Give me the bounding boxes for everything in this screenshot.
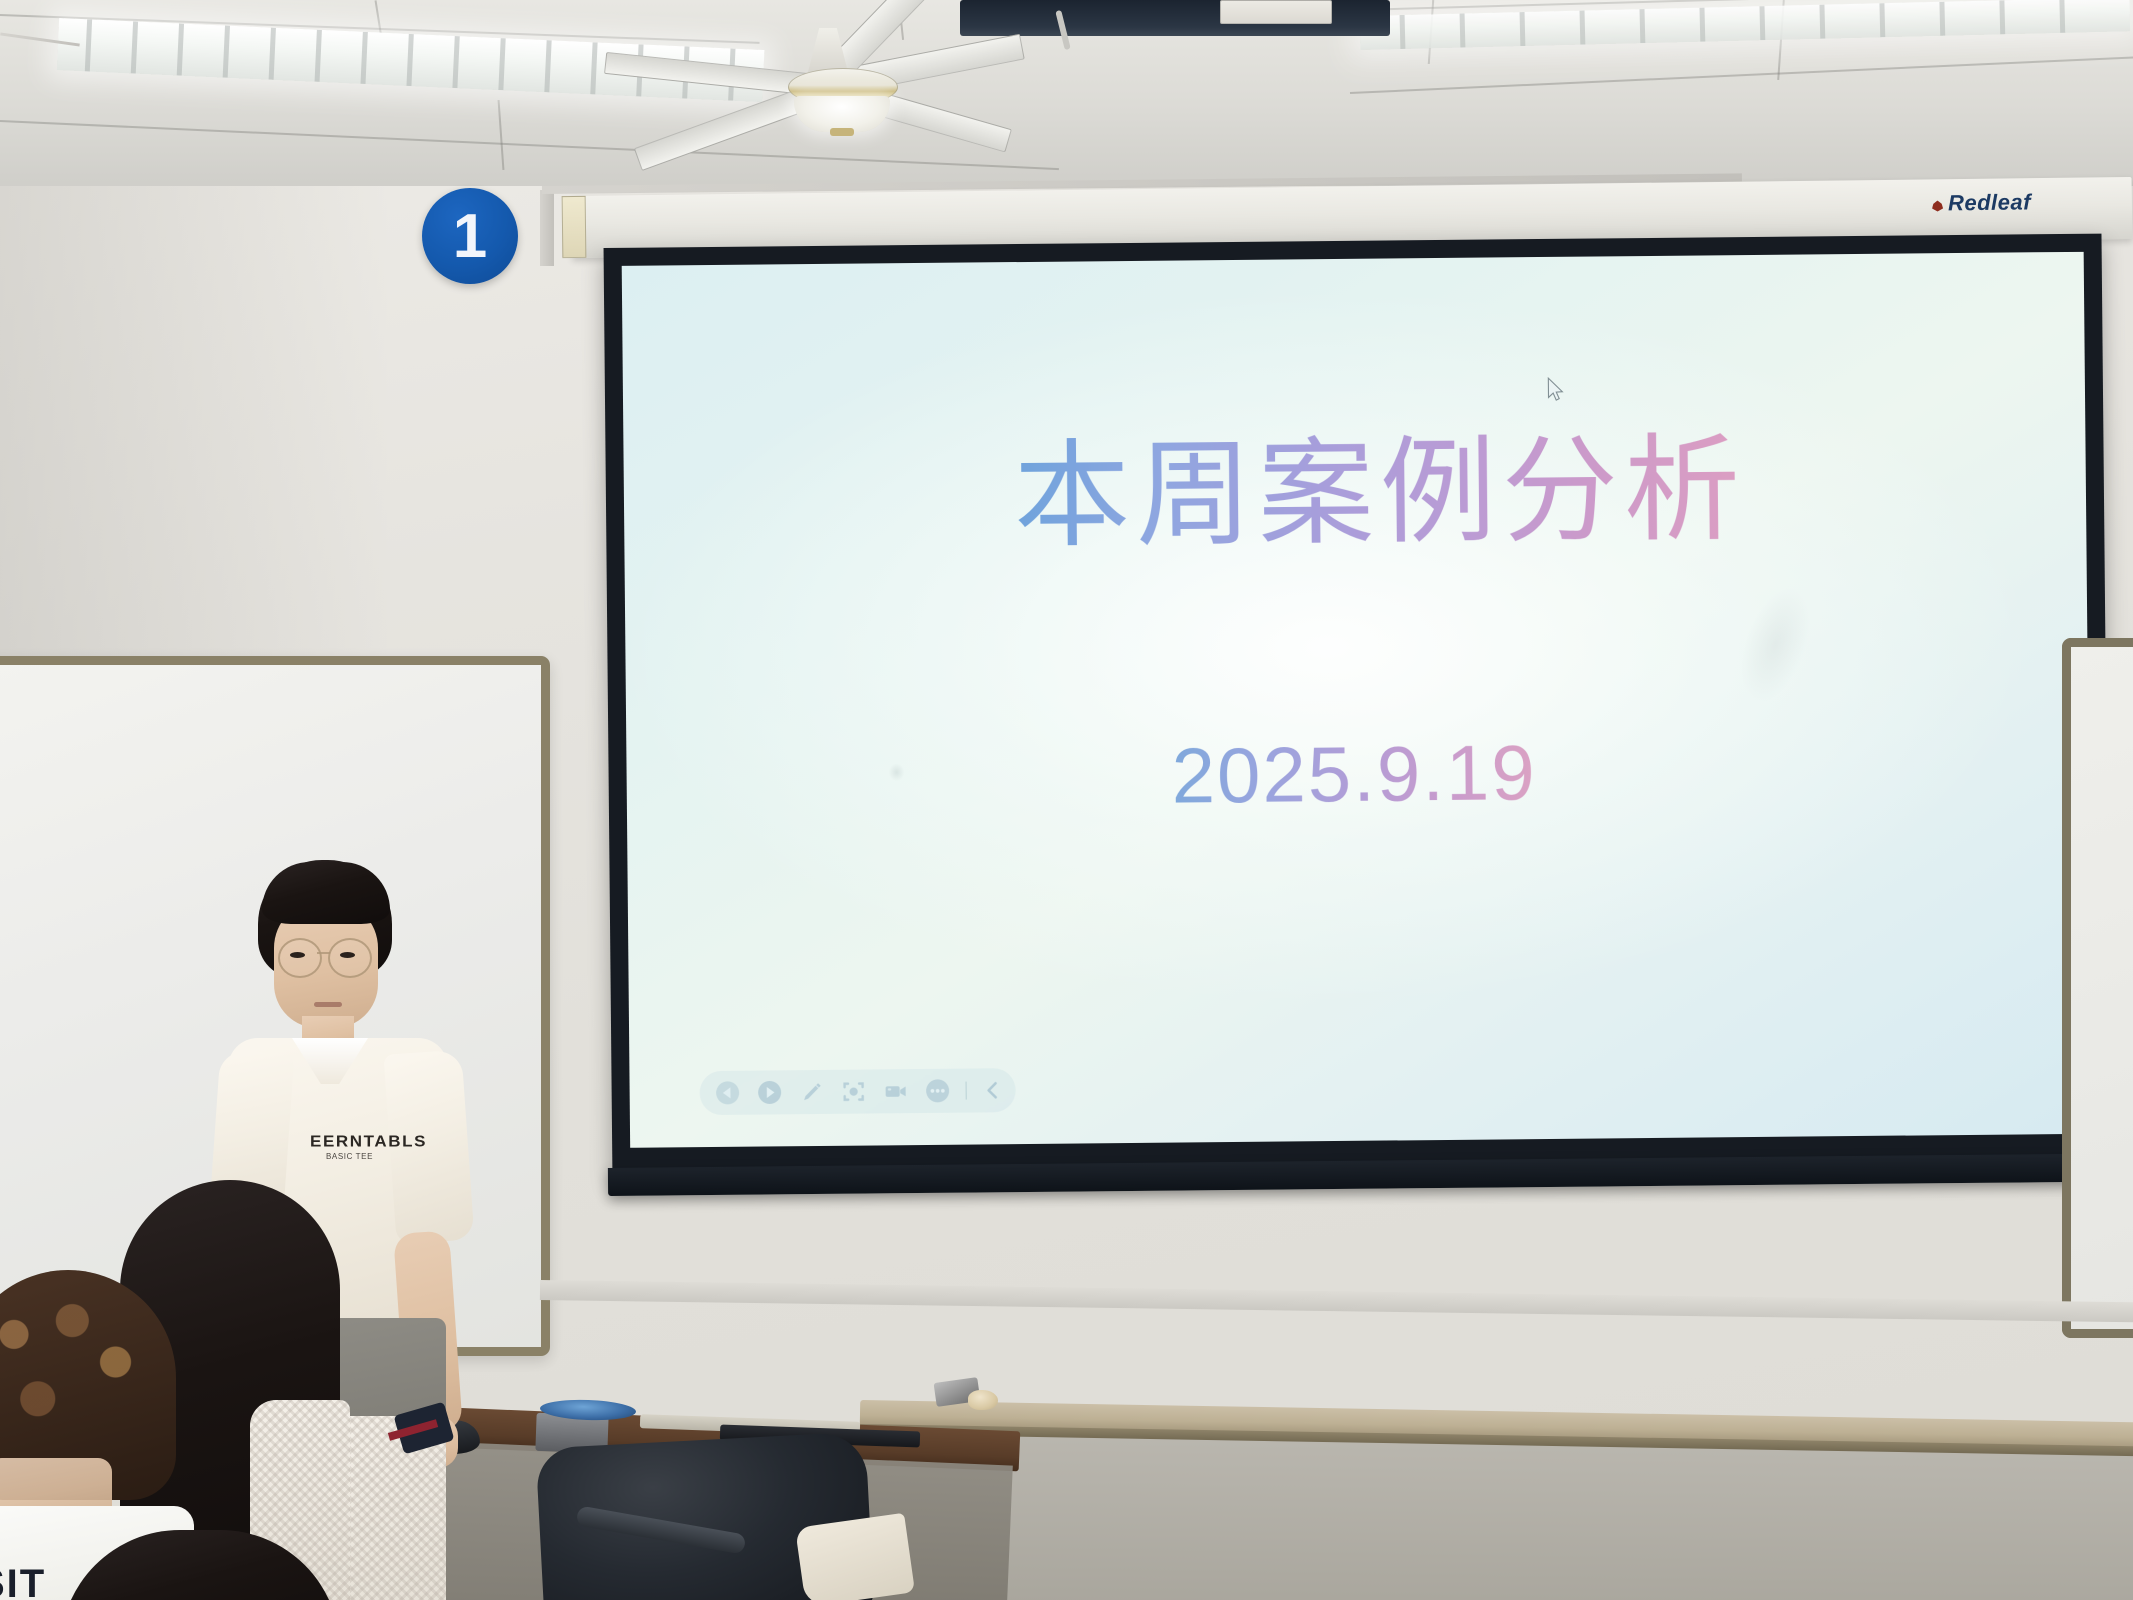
fan-downrod (808, 28, 848, 72)
chevron-left-icon (982, 1077, 1002, 1103)
whiteboard-right (2062, 638, 2133, 1338)
tshirt-text: SIT (0, 1562, 46, 1600)
previous-slide-button[interactable] (714, 1079, 741, 1106)
screen-housing-bracket (562, 196, 587, 258)
crumpled-paper (968, 1390, 998, 1410)
laser-pointer-button[interactable] (840, 1078, 867, 1105)
presenter-fringe (262, 862, 390, 924)
classroom-presentation-photo: 1 Redleaf 本周案例分析 2025.9.19 (0, 0, 2133, 1600)
screen-smudge (888, 763, 904, 781)
projection-screen-frame: 本周案例分析 2025.9.19 (604, 234, 2111, 1178)
presenter-eye (290, 952, 305, 958)
record-video-button[interactable] (882, 1078, 909, 1105)
room-number-label: 1 (453, 201, 487, 272)
collapse-toolbar-button[interactable] (982, 1077, 1002, 1104)
slide-title: 本周案例分析 (1013, 395, 1747, 570)
mouse-cursor-icon (1547, 377, 1565, 403)
back-counter-front-panel (863, 1434, 2133, 1600)
screen-brand-label: Redleaf (1948, 189, 2031, 215)
video-camera-icon (882, 1078, 908, 1104)
pencil-icon (798, 1079, 824, 1105)
ceiling-fan (720, 20, 1280, 130)
ellipsis-circle-icon (924, 1078, 950, 1104)
shirt-brand-sublogo: BASIC TEE (326, 1152, 373, 1161)
tote-bag (795, 1513, 915, 1600)
more-options-button[interactable] (924, 1077, 951, 1104)
presentation-toolbar[interactable] (699, 1068, 1015, 1115)
red-leaf-icon (1932, 200, 1943, 211)
shirt-brand-logo: EERNTABLS (310, 1133, 427, 1151)
toolbar-separator (966, 1082, 967, 1100)
glasses-left-lens (278, 938, 322, 978)
annotate-pen-button[interactable] (798, 1078, 825, 1105)
play-slide-button[interactable] (756, 1079, 783, 1106)
screen-smudge (1727, 578, 1824, 711)
presenter-eye (340, 952, 355, 958)
wall-conduit (540, 190, 554, 266)
focus-target-icon (840, 1079, 866, 1105)
glasses-right-lens (328, 938, 372, 978)
presenter-mouth (314, 1002, 342, 1007)
slide-date: 2025.9.19 (1171, 727, 1537, 821)
triangle-right-circle-icon (756, 1079, 782, 1105)
glasses-bridge (317, 952, 330, 954)
triangle-left-circle-icon (714, 1080, 740, 1106)
screen-brand-logo: Redleaf (1932, 189, 2031, 216)
projection-screen-surface[interactable]: 本周案例分析 2025.9.19 (622, 252, 2092, 1148)
room-number-sign: 1 (422, 188, 518, 284)
